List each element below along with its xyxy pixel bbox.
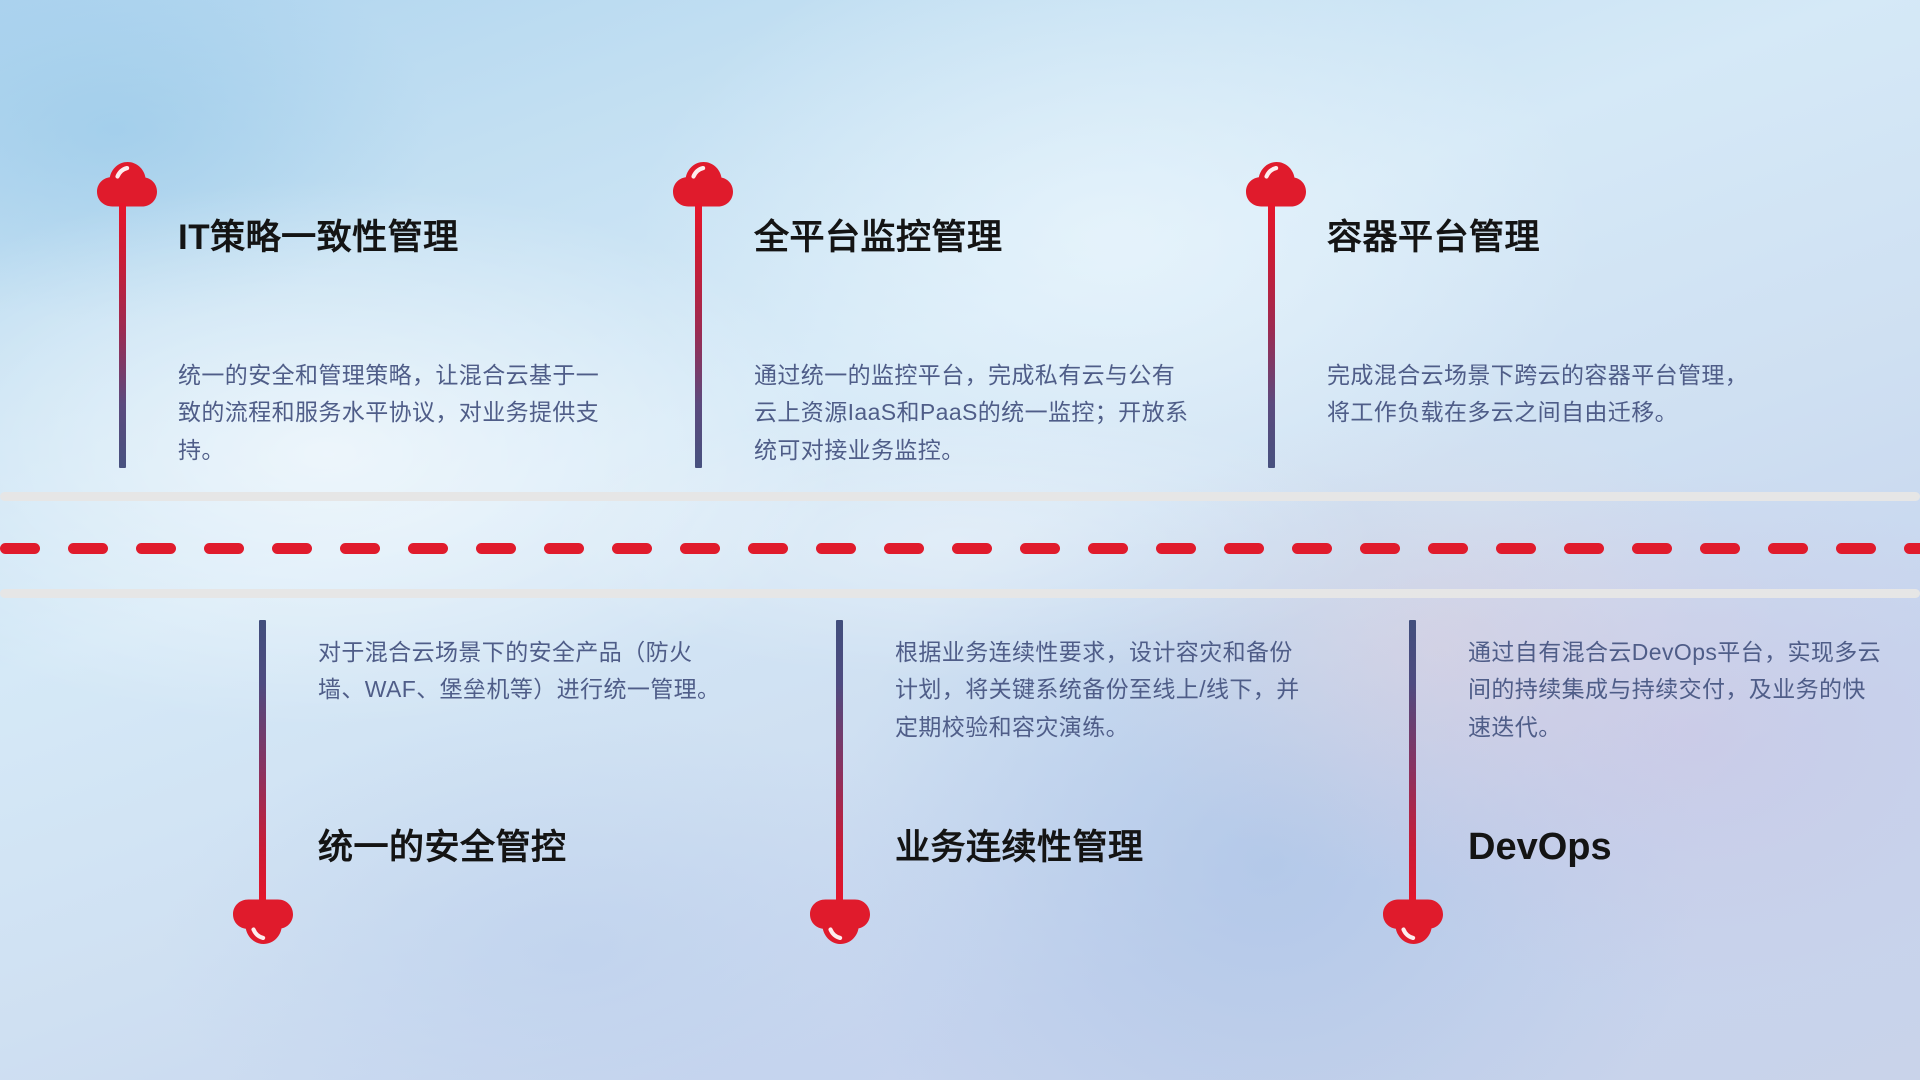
divider-dash (204, 543, 244, 554)
feature-heading: 全平台监控管理 (754, 217, 1003, 259)
divider-dash (408, 543, 448, 554)
divider-dash (1496, 543, 1536, 554)
divider-dash (1224, 543, 1264, 554)
divider-rule-top (0, 492, 1920, 501)
feature-body-text: 完成混合云场景下跨云的容器平台管理，将工作负载在多云之间自由迁移。 (1327, 357, 1757, 432)
stem-line (695, 203, 702, 468)
divider-dash (272, 543, 312, 554)
feature-body: 根据业务连续性要求，设计容灾和备份计划，将关键系统备份至线上/线下，并定期校验和… (895, 634, 1315, 746)
divider-dash (136, 543, 176, 554)
cloud-icon (96, 160, 158, 208)
cloud-icon (809, 898, 871, 946)
stem-line (1268, 203, 1275, 468)
divider-dash (816, 543, 856, 554)
feature-body: 完成混合云场景下跨云的容器平台管理，将工作负载在多云之间自由迁移。 (1327, 357, 1757, 432)
divider-dash (1632, 543, 1672, 554)
feature-heading: 容器平台管理 (1327, 217, 1540, 259)
feature-body-text: 通过自有混合云DevOps平台，实现多云间的持续集成与持续交付，及业务的快速迭代… (1468, 634, 1888, 746)
divider-dashed-line (0, 543, 1920, 554)
feature-body-text: 对于混合云场景下的安全产品（防火墙、WAF、堡垒机等）进行统一管理。 (318, 634, 738, 709)
cloud-icon (1382, 898, 1444, 946)
feature-heading: 统一的安全管控 (318, 827, 567, 869)
cloud-icon (672, 160, 734, 208)
divider-dash (884, 543, 924, 554)
divider-dash (476, 543, 516, 554)
stem-line (259, 620, 266, 908)
divider-dash (1564, 543, 1604, 554)
divider-dash (680, 543, 720, 554)
divider-dash (340, 543, 380, 554)
divider-dash (1020, 543, 1060, 554)
divider-dash (1292, 543, 1332, 554)
divider-dash (1904, 543, 1920, 554)
feature-body: 通过统一的监控平台，完成私有云与公有云上资源IaaS和PaaS的统一监控；开放系… (754, 357, 1194, 469)
divider-dash (1836, 543, 1876, 554)
feature-body: 对于混合云场景下的安全产品（防火墙、WAF、堡垒机等）进行统一管理。 (318, 634, 738, 709)
divider-dash (68, 543, 108, 554)
feature-body: 统一的安全和管理策略，让混合云基于一致的流程和服务水平协议，对业务提供支持。 (178, 357, 603, 469)
feature-heading: 业务连续性管理 (895, 827, 1144, 869)
divider-dash (1428, 543, 1468, 554)
feature-heading: DevOps (1468, 825, 1612, 871)
cloud-icon (1245, 160, 1307, 208)
divider-dash (612, 543, 652, 554)
cloud-icon (232, 898, 294, 946)
divider-dash (1156, 543, 1196, 554)
stem-line (119, 203, 126, 468)
divider-rule-bottom (0, 589, 1920, 598)
divider-dash (1088, 543, 1128, 554)
divider-dash (1768, 543, 1808, 554)
stem-line (836, 620, 843, 908)
divider-dash (952, 543, 992, 554)
divider-dash (748, 543, 788, 554)
divider-dash (0, 543, 40, 554)
divider-dash (1360, 543, 1400, 554)
feature-heading: IT策略一致性管理 (178, 217, 459, 259)
divider-dash (1700, 543, 1740, 554)
stem-line (1409, 620, 1416, 908)
feature-body-text: 统一的安全和管理策略，让混合云基于一致的流程和服务水平协议，对业务提供支持。 (178, 357, 603, 469)
feature-body-text: 通过统一的监控平台，完成私有云与公有云上资源IaaS和PaaS的统一监控；开放系… (754, 357, 1194, 469)
feature-body: 通过自有混合云DevOps平台，实现多云间的持续集成与持续交付，及业务的快速迭代… (1468, 634, 1888, 746)
feature-body-text: 根据业务连续性要求，设计容灾和备份计划，将关键系统备份至线上/线下，并定期校验和… (895, 634, 1315, 746)
divider-dash (544, 543, 584, 554)
